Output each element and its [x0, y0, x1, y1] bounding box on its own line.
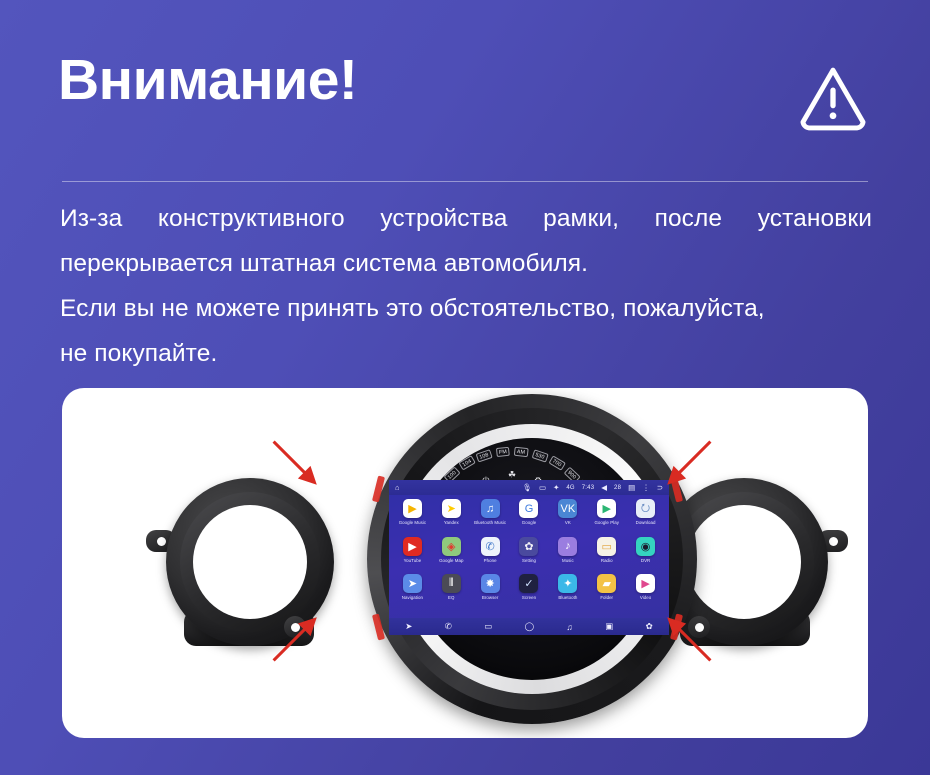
app-tile[interactable]: ▶YouTube: [393, 537, 432, 575]
red-pointer-arrow-top-right: [660, 438, 714, 492]
radio-scale-label: 700: [548, 456, 565, 471]
app-label: Bluetooth Music: [474, 520, 506, 525]
browser-icon[interactable]: ✸: [481, 574, 500, 593]
phone-icon[interactable]: ✆: [445, 621, 452, 632]
radio-scale-label: FM: [495, 446, 509, 457]
right-vent-opening: [687, 505, 801, 619]
navigation-arrow-icon[interactable]: ➤: [405, 621, 412, 632]
warning-banner-page: Внимание! Из-за конструктивного устройст…: [0, 0, 930, 775]
app-label: DVR: [641, 558, 650, 563]
left-vent-opening: [193, 505, 307, 619]
app-tile[interactable]: ▶Video: [626, 574, 665, 612]
app-tile[interactable]: ✓Screen: [510, 574, 549, 612]
app-label: Google Play: [594, 520, 618, 525]
warning-line-4: не покупайте.: [60, 331, 872, 376]
warning-triangle-icon: [796, 62, 870, 136]
bluetooth-icon[interactable]: ✦: [553, 484, 559, 492]
volume-level: 28: [614, 485, 621, 491]
app-tile[interactable]: ◉DVR: [626, 537, 665, 575]
app-label: YouTube: [404, 558, 422, 563]
app-tile[interactable]: ✿Setting: [510, 537, 549, 575]
app-tile[interactable]: VKVK: [548, 499, 587, 537]
app-label: Video: [640, 595, 651, 600]
network-label: 4G: [566, 485, 574, 491]
app-tile[interactable]: ➤Navigation: [393, 574, 432, 612]
app-label: Bluetooth: [558, 595, 577, 600]
overflow-menu-icon[interactable]: ⋮: [642, 484, 650, 492]
app-label: Radio: [601, 558, 613, 563]
vk-icon[interactable]: VK: [558, 499, 577, 518]
yandex-icon[interactable]: ➤: [442, 499, 461, 518]
head-unit-screen[interactable]: ⌂ 🎙 ▭ ✦ 4G 7:43 ◀ 28 ▤ ⋮ ⊃ ▶: [389, 480, 669, 635]
header: Внимание!: [58, 52, 890, 157]
app-tile[interactable]: ✸Browser: [471, 574, 510, 612]
phone-icon[interactable]: ✆: [481, 537, 500, 556]
app-label: Google: [522, 520, 536, 525]
music-note-icon[interactable]: ♫: [566, 622, 572, 632]
app-tile[interactable]: ♪Music: [548, 537, 587, 575]
header-divider: [62, 181, 868, 182]
app-tile[interactable]: ⭮Download: [626, 499, 665, 537]
download-icon[interactable]: ⭮: [636, 499, 655, 518]
google-map-icon[interactable]: ◈: [442, 537, 461, 556]
sdcard-icon: ▭: [539, 484, 546, 492]
dvr-icon[interactable]: ◉: [636, 537, 655, 556]
app-label: Phone: [484, 558, 497, 563]
home-icon[interactable]: ⌂: [395, 484, 400, 492]
app-label: Music: [562, 558, 574, 563]
home-circle-icon[interactable]: ◯: [525, 621, 535, 632]
dial-indicator-icon: ☘: [508, 471, 516, 480]
bluetooth-app-icon[interactable]: ✦: [558, 574, 577, 593]
page-title: Внимание!: [58, 52, 890, 109]
google-music-icon[interactable]: ▶: [403, 499, 422, 518]
app-label: Google Music: [399, 520, 426, 525]
radio-scale-label: 108: [476, 449, 493, 462]
product-photo-card: 889296100104108FMAM530700900110013001600…: [62, 388, 868, 738]
google-play-icon[interactable]: ▶: [597, 499, 616, 518]
app-tile[interactable]: ▰Folder: [587, 574, 626, 612]
settings-icon[interactable]: ✿: [519, 537, 538, 556]
navigation-icon[interactable]: ➤: [403, 574, 422, 593]
equalizer-icon[interactable]: ⦀: [442, 574, 461, 593]
google-icon[interactable]: G: [519, 499, 538, 518]
screen-icon[interactable]: ✓: [519, 574, 538, 593]
warning-line-1: Из-за конструктивного устройства рамки, …: [60, 196, 872, 241]
app-tile[interactable]: GGoogle: [510, 499, 549, 537]
app-tile[interactable]: ▭Radio: [587, 537, 626, 575]
app-tile[interactable]: ➤Yandex: [432, 499, 471, 537]
app-tile[interactable]: ✆Phone: [471, 537, 510, 575]
app-label: Browser: [482, 595, 498, 600]
app-label: Setting: [522, 558, 536, 563]
clock-label: 7:43: [582, 485, 594, 491]
red-pointer-arrow-bottom-right: [660, 610, 714, 664]
red-pointer-arrow-bottom-left: [270, 610, 324, 664]
warning-text: Из-за конструктивного устройства рамки, …: [60, 196, 872, 376]
app-tile[interactable]: ◈Google Map: [432, 537, 471, 575]
app-grid: ▶Google Music➤Yandex♫Bluetooth MusicGGoo…: [389, 496, 669, 612]
radio-icon[interactable]: ▭: [597, 537, 616, 556]
radio-scale-label: 530: [531, 449, 548, 462]
app-label: EQ: [448, 595, 454, 600]
radio-icon[interactable]: ▭: [484, 621, 492, 632]
video-icon[interactable]: ▣: [605, 621, 613, 632]
settings-gear-icon[interactable]: ✿: [646, 621, 653, 632]
app-label: VK: [565, 520, 571, 525]
recents-icon[interactable]: ▤: [628, 484, 635, 492]
car-radio-frame-photo: 889296100104108FMAM530700900110013001600…: [62, 388, 868, 738]
bluetooth-music-icon[interactable]: ♫: [481, 499, 500, 518]
app-label: Navigation: [402, 595, 423, 600]
app-tile[interactable]: ▶Google Music: [393, 499, 432, 537]
music-icon[interactable]: ♪: [558, 537, 577, 556]
volume-icon[interactable]: ◀: [601, 484, 607, 492]
warning-line-3: Если вы не можете принять это обстоятель…: [60, 286, 872, 331]
red-pointer-arrow-top-left: [270, 438, 324, 492]
app-tile[interactable]: ⦀EQ: [432, 574, 471, 612]
app-label: Folder: [600, 595, 613, 600]
app-label: Google Map: [439, 558, 463, 563]
video-icon[interactable]: ▶: [636, 574, 655, 593]
folder-icon[interactable]: ▰: [597, 574, 616, 593]
radio-scale-label: AM: [514, 446, 528, 457]
bottom-dock: ➤✆▭◯♫▣✿: [389, 618, 669, 635]
app-label: Yandex: [444, 520, 459, 525]
app-tile[interactable]: ▶Google Play: [587, 499, 626, 537]
warning-line-2: перекрывается штатная система автомобиля…: [60, 241, 872, 286]
app-tile[interactable]: ♫Bluetooth Music: [471, 499, 510, 537]
android-status-bar: ⌂ 🎙 ▭ ✦ 4G 7:43 ◀ 28 ▤ ⋮ ⊃: [389, 480, 669, 495]
app-label: Download: [636, 520, 656, 525]
app-label: Screen: [522, 595, 536, 600]
microphone-icon[interactable]: 🎙: [522, 484, 532, 492]
youtube-icon[interactable]: ▶: [403, 537, 422, 556]
app-tile[interactable]: ✦Bluetooth: [548, 574, 587, 612]
